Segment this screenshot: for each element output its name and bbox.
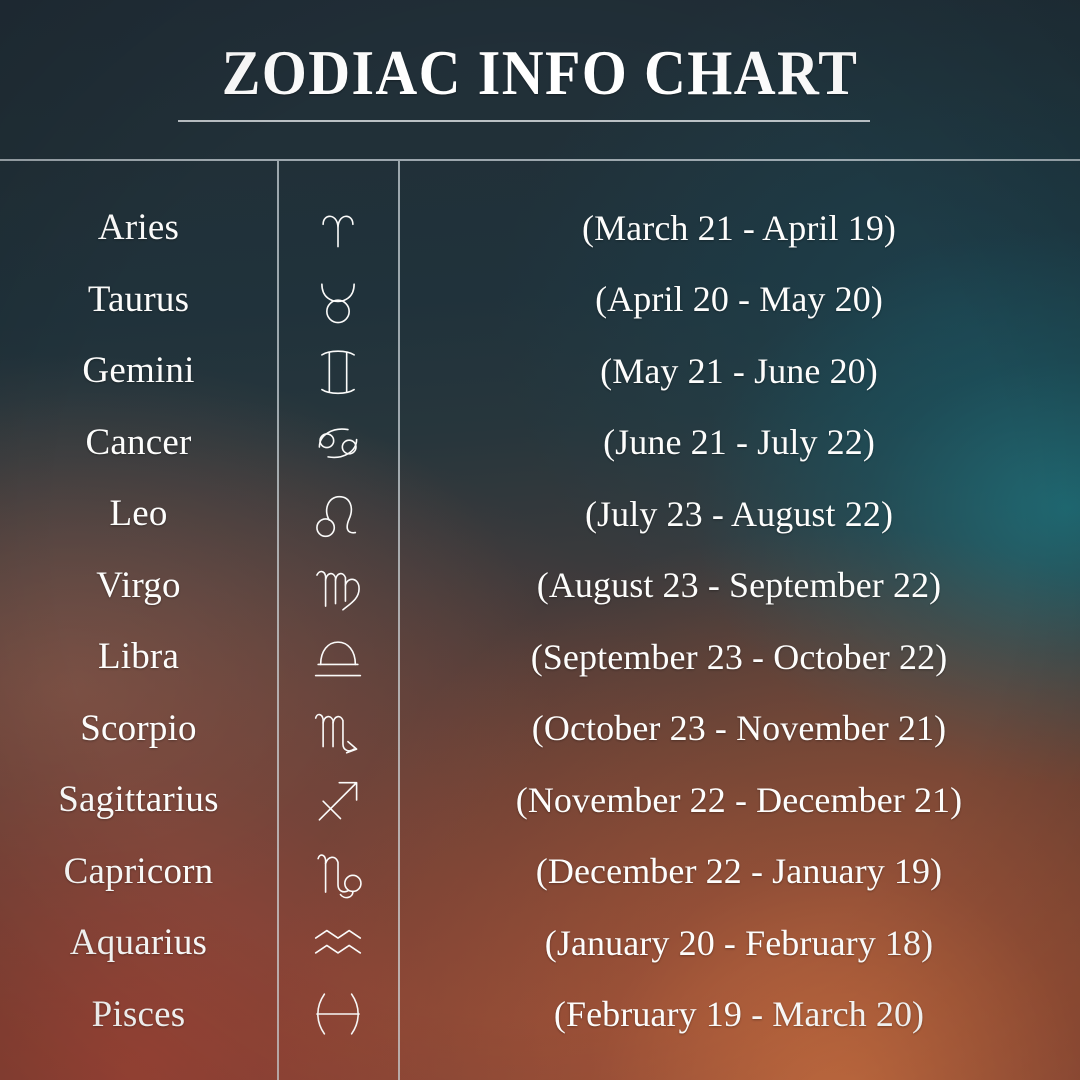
table-row: (January 20 - February 18) xyxy=(398,907,1080,979)
table-row xyxy=(277,550,398,622)
table-row: Taurus xyxy=(0,264,277,336)
page-title: ZODIAC INFO CHART xyxy=(43,42,1037,105)
sign-name-capricorn: Capricorn xyxy=(64,853,214,890)
sign-dates-scorpio: (October 23 - November 21) xyxy=(532,710,946,746)
column-sign-symbols xyxy=(277,161,398,1080)
table-row: (December 22 - January 19) xyxy=(398,836,1080,908)
zodiac-table: AriesTaurusGeminiCancerLeoVirgoLibraScor… xyxy=(0,161,1080,1080)
aquarius-icon xyxy=(307,912,369,974)
pisces-icon xyxy=(307,983,369,1045)
table-row: Virgo xyxy=(0,550,277,622)
table-row: (June 21 - July 22) xyxy=(398,407,1080,479)
table-row: (November 22 - December 21) xyxy=(398,764,1080,836)
table-row: Scorpio xyxy=(0,693,277,765)
leo-icon xyxy=(307,483,369,545)
table-row: Libra xyxy=(0,621,277,693)
gemini-icon xyxy=(307,340,369,402)
column-divider-left xyxy=(277,161,279,1080)
table-row xyxy=(277,192,398,264)
sign-name-aries: Aries xyxy=(98,209,179,246)
table-row xyxy=(277,979,398,1051)
sign-dates-capricorn: (December 22 - January 19) xyxy=(536,853,942,889)
table-row xyxy=(277,907,398,979)
table-row: (September 23 - October 22) xyxy=(398,621,1080,693)
sign-name-aquarius: Aquarius xyxy=(70,924,207,961)
table-row xyxy=(277,836,398,908)
table-row: (May 21 - June 20) xyxy=(398,335,1080,407)
table-row xyxy=(277,264,398,336)
table-row xyxy=(277,621,398,693)
table-row: (April 20 - May 20) xyxy=(398,264,1080,336)
table-row xyxy=(277,478,398,550)
table-row: Cancer xyxy=(0,407,277,479)
sign-dates-virgo: (August 23 - September 22) xyxy=(537,567,942,603)
sign-name-gemini: Gemini xyxy=(82,352,194,389)
libra-icon xyxy=(307,626,369,688)
table-row xyxy=(277,693,398,765)
sign-name-taurus: Taurus xyxy=(88,281,189,318)
table-row: (March 21 - April 19) xyxy=(398,192,1080,264)
table-row: Pisces xyxy=(0,979,277,1051)
sign-name-sagittarius: Sagittarius xyxy=(58,781,218,818)
table-row: Capricorn xyxy=(0,836,277,908)
sign-dates-sagittarius: (November 22 - December 21) xyxy=(516,782,963,818)
column-sign-dates: (March 21 - April 19)(April 20 - May 20)… xyxy=(398,161,1080,1080)
sign-dates-aquarius: (January 20 - February 18) xyxy=(545,925,933,961)
table-row: Gemini xyxy=(0,335,277,407)
table-row: (February 19 - March 20) xyxy=(398,979,1080,1051)
scorpio-icon xyxy=(307,697,369,759)
capricorn-icon xyxy=(307,840,369,902)
table-row: Leo xyxy=(0,478,277,550)
sign-name-libra: Libra xyxy=(98,638,179,675)
zodiac-info-poster: ZODIAC INFO CHART AriesTaurusGeminiCance… xyxy=(0,0,1080,1080)
sign-name-scorpio: Scorpio xyxy=(80,710,197,747)
taurus-icon xyxy=(307,268,369,330)
column-divider-right xyxy=(398,161,400,1080)
table-row: (October 23 - November 21) xyxy=(398,693,1080,765)
table-row: (August 23 - September 22) xyxy=(398,550,1080,622)
aries-icon xyxy=(307,197,369,259)
table-row: (July 23 - August 22) xyxy=(398,478,1080,550)
sign-dates-taurus: (April 20 - May 20) xyxy=(595,281,883,317)
sign-name-virgo: Virgo xyxy=(96,567,180,604)
sign-name-cancer: Cancer xyxy=(86,424,192,461)
column-sign-names: AriesTaurusGeminiCancerLeoVirgoLibraScor… xyxy=(0,161,277,1080)
sign-dates-libra: (September 23 - October 22) xyxy=(531,639,948,675)
table-row xyxy=(277,407,398,479)
sign-name-leo: Leo xyxy=(109,495,167,532)
table-row xyxy=(277,764,398,836)
title-underline-rule xyxy=(178,120,870,122)
sign-dates-gemini: (May 21 - June 20) xyxy=(600,353,878,389)
virgo-icon xyxy=(307,554,369,616)
sagittarius-icon xyxy=(307,769,369,831)
sign-dates-leo: (July 23 - August 22) xyxy=(585,496,893,532)
poster-header: ZODIAC INFO CHART xyxy=(0,0,1080,160)
sign-name-pisces: Pisces xyxy=(92,996,186,1033)
sign-dates-aries: (March 21 - April 19) xyxy=(582,210,896,246)
table-row xyxy=(277,335,398,407)
cancer-icon xyxy=(307,411,369,473)
table-row: Sagittarius xyxy=(0,764,277,836)
sign-dates-cancer: (June 21 - July 22) xyxy=(603,424,875,460)
sign-dates-pisces: (February 19 - March 20) xyxy=(554,996,924,1032)
table-row: Aries xyxy=(0,192,277,264)
table-row: Aquarius xyxy=(0,907,277,979)
